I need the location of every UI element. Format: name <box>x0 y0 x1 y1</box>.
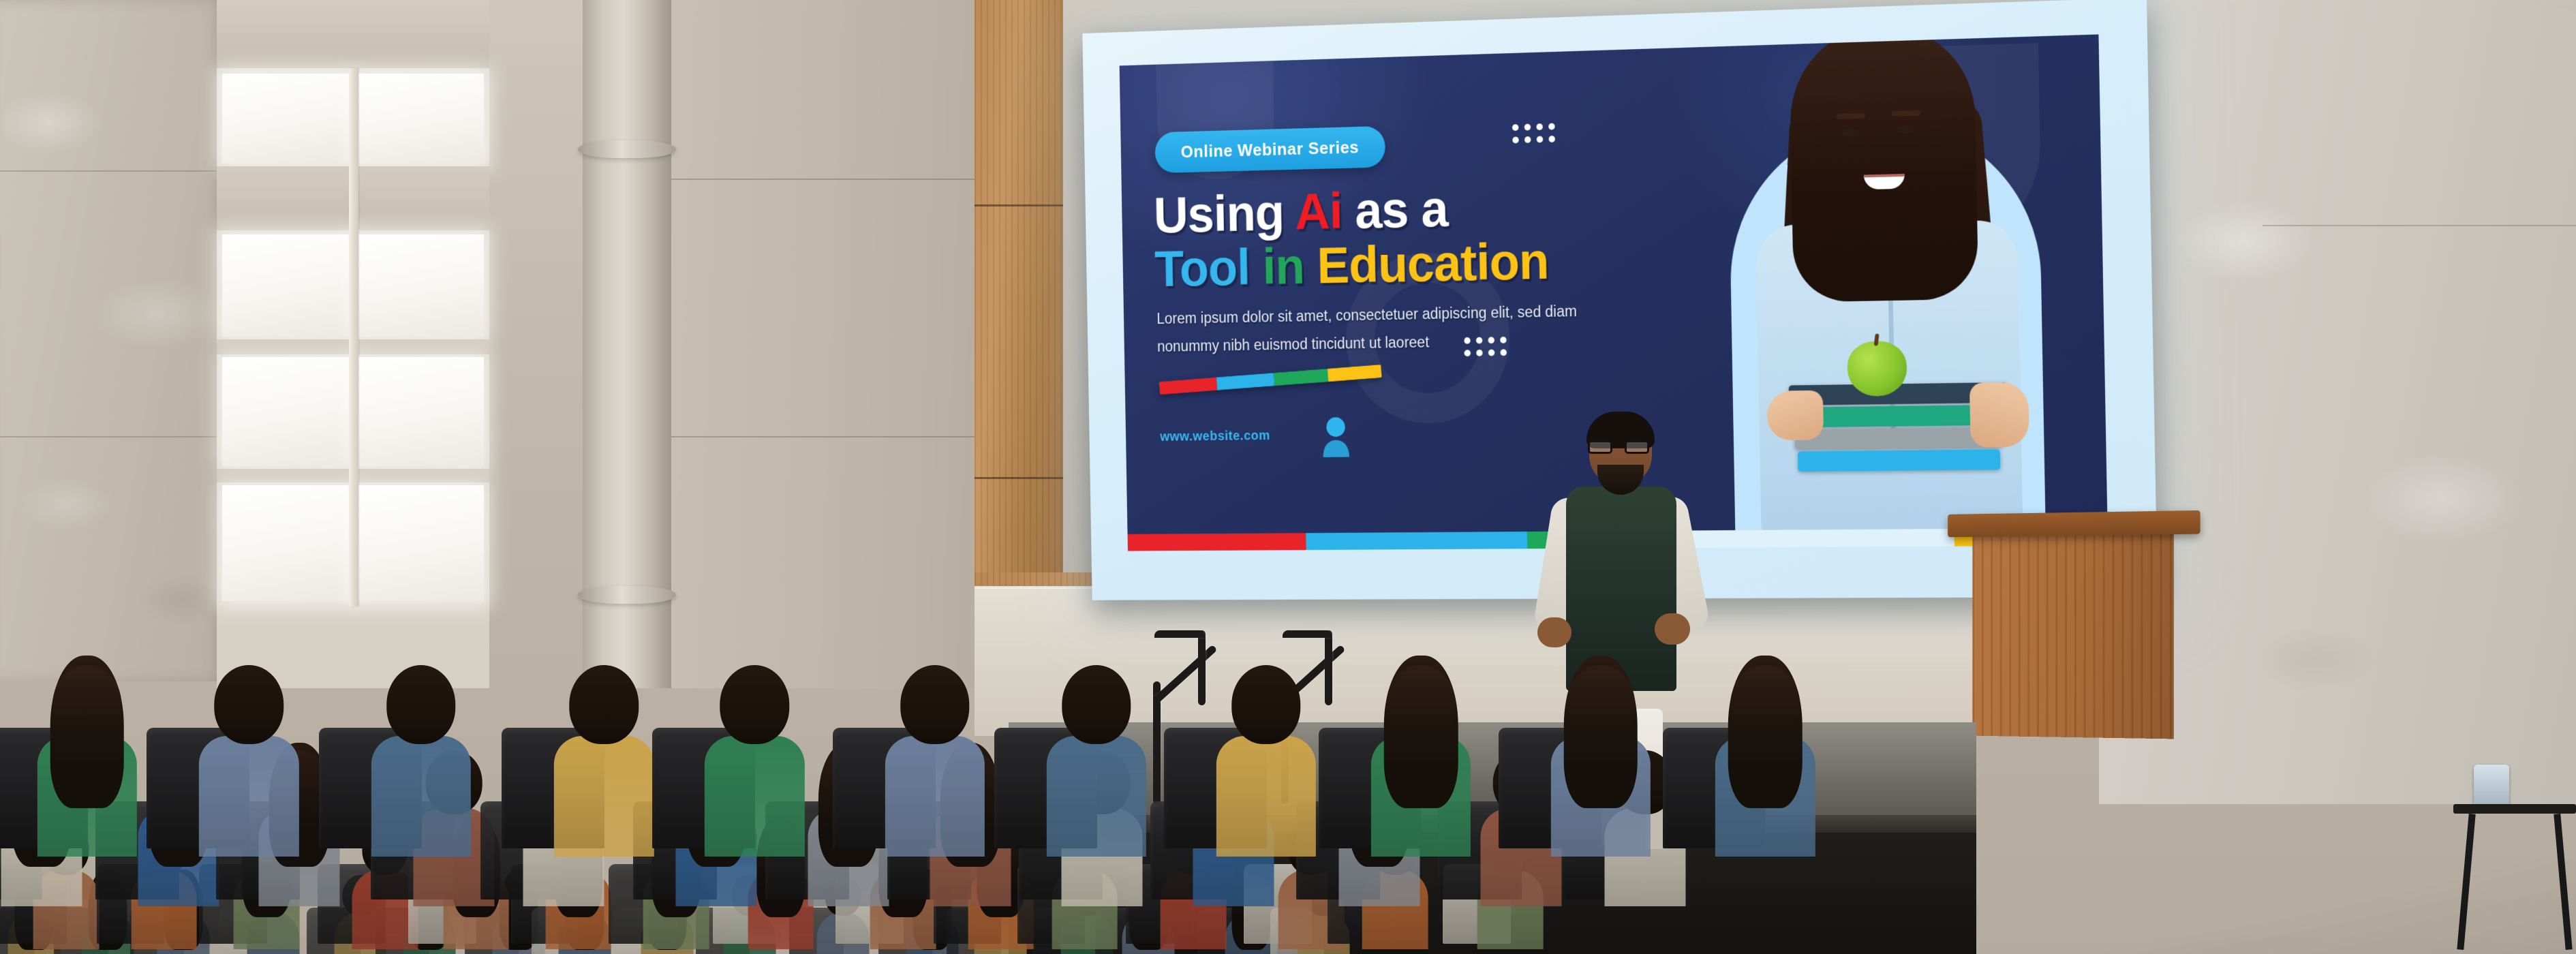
window-pane <box>357 485 484 601</box>
dot <box>1548 123 1555 130</box>
headline-word-education: Education <box>1304 232 1549 294</box>
window-pane <box>357 357 484 466</box>
slide-body-copy: Lorem ipsum dolor sit amet, consectetuer… <box>1156 296 1659 360</box>
audience-member <box>883 639 987 857</box>
stone-seam-right <box>2263 225 2576 226</box>
color-bar-segment <box>1216 373 1275 390</box>
audience-member-torso <box>554 736 654 857</box>
audience <box>0 641 2576 954</box>
wood-seam <box>975 477 1063 479</box>
teacher-hand-right <box>1969 382 2029 448</box>
teacher-brow-right <box>1892 110 1921 117</box>
window-spandrel <box>217 0 489 68</box>
audience-member <box>1368 639 1473 857</box>
audience-member <box>1044 639 1148 857</box>
webinar-badge: Online Webinar Series <box>1154 126 1385 173</box>
audience-member-torso <box>885 736 984 857</box>
railing-cap-2 <box>1283 630 1332 638</box>
slide-website-url: www.website.com <box>1160 429 1270 445</box>
audience-member <box>35 639 139 857</box>
audience-member-torso <box>1047 736 1146 857</box>
color-bar-segment <box>1274 369 1328 386</box>
column-ring <box>578 140 676 158</box>
audience-member <box>552 639 656 857</box>
window-pane <box>357 74 484 164</box>
dot <box>1476 350 1482 356</box>
dot <box>1524 124 1531 131</box>
audience-member-head <box>1730 665 1799 744</box>
dot-grid-icon <box>1464 337 1507 356</box>
headline-word-using: Using <box>1153 183 1295 244</box>
dot <box>1488 337 1494 343</box>
concrete-column <box>583 0 671 688</box>
stone-wall-left <box>0 0 225 681</box>
glasses-icon <box>1588 440 1653 454</box>
window-pane <box>222 357 349 466</box>
column-ring <box>578 586 676 604</box>
dot <box>1501 349 1507 356</box>
bottom-bar-segment <box>1128 533 1306 551</box>
audience-member <box>703 639 807 857</box>
slide-color-bar <box>1159 365 1382 395</box>
audience-member-head <box>386 665 455 744</box>
dot <box>1537 136 1544 143</box>
glasses-lens-left <box>1588 440 1612 454</box>
headline-word-tool: Tool <box>1154 238 1263 298</box>
audience-member-head <box>900 665 969 744</box>
window-pane <box>222 74 349 164</box>
dot <box>1524 136 1531 143</box>
audience-member-torso <box>705 736 804 857</box>
audience-member-torso <box>199 736 298 857</box>
audience-member-head <box>1566 665 1635 744</box>
headline-word-asa: as a <box>1342 179 1448 239</box>
dot <box>1512 137 1518 144</box>
audience-member-torso <box>371 736 471 857</box>
bottom-bar-segment <box>1306 532 1527 550</box>
audience-member-head <box>1386 665 1455 744</box>
window-wall <box>217 0 489 688</box>
teacher-brow-left <box>1837 113 1866 119</box>
headline-word-ai: Ai <box>1294 182 1343 241</box>
audience-member-head <box>720 665 789 744</box>
dot <box>1536 123 1543 130</box>
window-mullion <box>349 68 358 606</box>
audience-member-head <box>215 665 283 744</box>
audience-member <box>369 639 473 857</box>
dot <box>1464 337 1470 344</box>
book <box>1798 449 2000 472</box>
stone-seam <box>0 170 225 172</box>
audience-member-head <box>570 665 639 744</box>
dot <box>1512 124 1518 131</box>
audience-member <box>1548 639 1653 857</box>
audience-member-head <box>1062 665 1131 744</box>
headline-line-2: Tool in Education <box>1154 230 1709 296</box>
dot <box>1476 337 1482 344</box>
teacher-photo <box>1696 34 2075 533</box>
audience-member <box>1713 639 1818 857</box>
glasses-lens-right <box>1625 440 1649 454</box>
dot <box>1548 136 1555 142</box>
dot-grid-icon <box>1512 123 1555 144</box>
color-bar-segment <box>1159 378 1217 395</box>
teacher-hand-left <box>1766 390 1824 441</box>
dot <box>1488 350 1494 356</box>
window-pane <box>357 234 484 337</box>
audience-member <box>197 639 301 857</box>
railing-cap <box>1154 630 1205 638</box>
audience-member-torso <box>1216 736 1316 857</box>
window-pane <box>222 234 349 337</box>
audience-member-head <box>52 665 121 744</box>
audience-member-head <box>1231 665 1300 744</box>
auditorium-scene: Online Webinar Series Using Ai as a Tool… <box>0 0 2576 954</box>
podium-top <box>1948 510 2200 537</box>
headline-word-in: in <box>1262 237 1305 295</box>
stone-seam <box>0 436 225 437</box>
audience-member <box>1214 639 1318 857</box>
teacher-hair-top <box>1789 34 1978 302</box>
slide-headline: Using Ai as a Tool in Education <box>1153 174 1708 296</box>
person-icon <box>1321 416 1351 459</box>
dot <box>1500 337 1506 343</box>
wood-seam <box>975 204 1063 206</box>
dot <box>1465 350 1471 356</box>
window-pane <box>222 485 349 601</box>
